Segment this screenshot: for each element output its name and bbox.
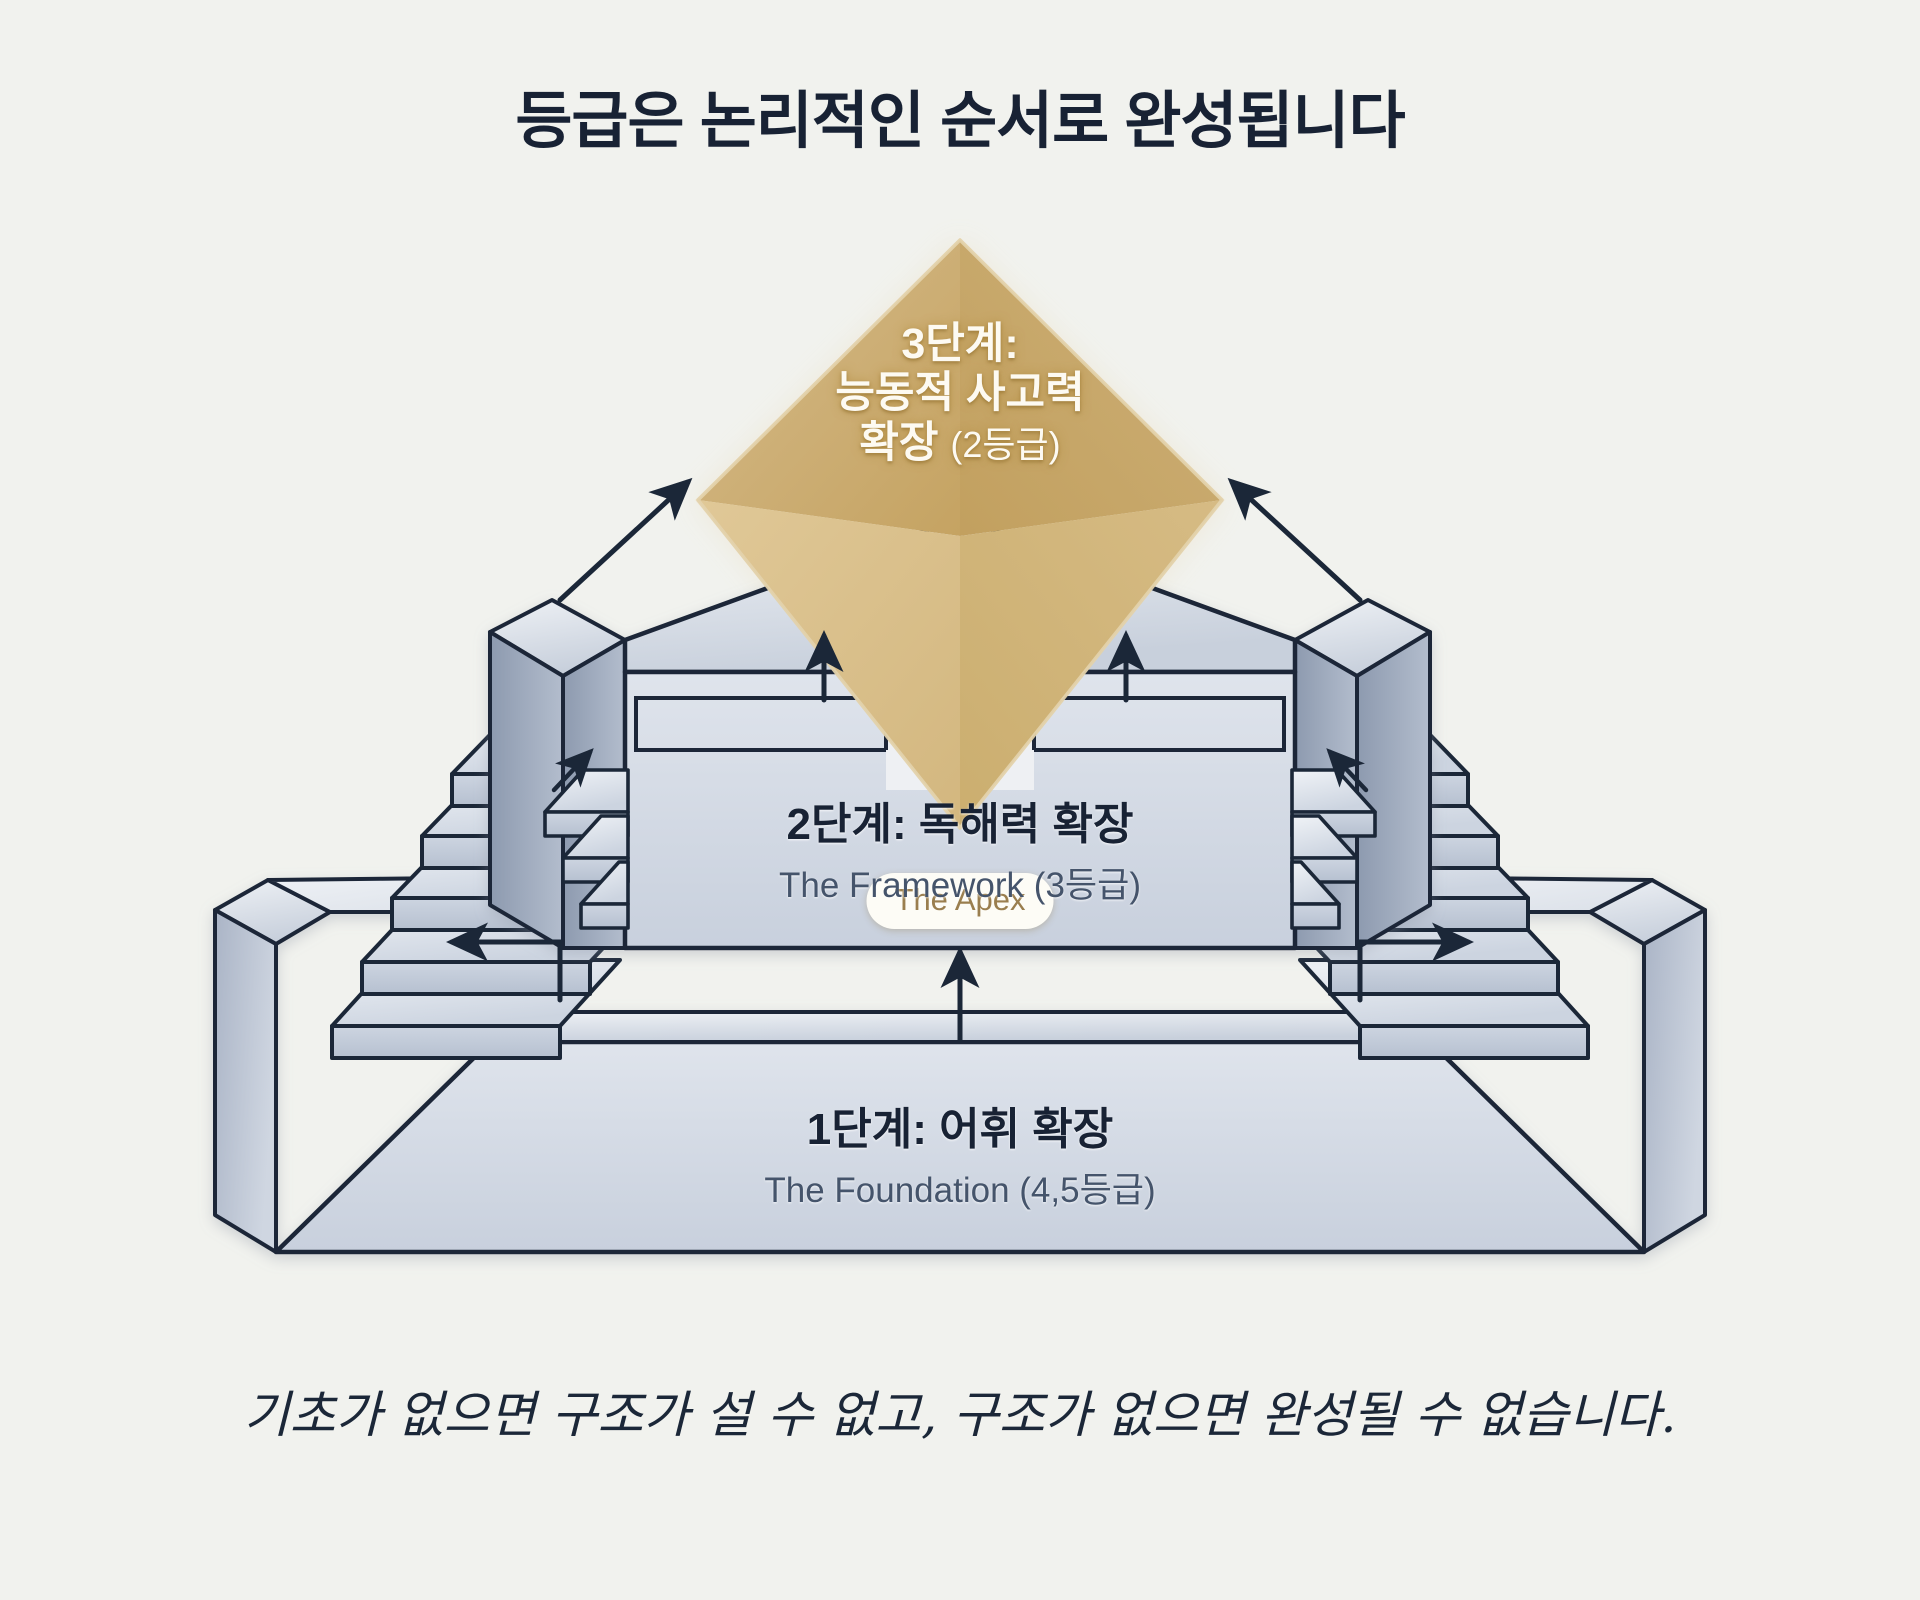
foundation-left-wall — [215, 910, 276, 1252]
apex-facet-top-left — [698, 240, 960, 536]
pyramid-diagram — [0, 0, 1920, 1600]
apex-facet-top-right — [960, 240, 1222, 536]
foundation-right-wall — [1644, 910, 1705, 1252]
stair-riser — [362, 962, 590, 994]
stair-riser — [1330, 962, 1558, 994]
stair-riser — [1292, 904, 1339, 928]
arrow-framework-to-apex-outer-left — [560, 482, 688, 600]
stair-riser — [1360, 1026, 1588, 1058]
stair-riser — [332, 1026, 560, 1058]
footer-caption: 기초가 없으면 구조가 설 수 없고, 구조가 없으면 완성될 수 없습니다. — [0, 1375, 1920, 1447]
arrow-framework-to-apex-outer-right — [1232, 482, 1360, 600]
stair-riser — [581, 904, 628, 928]
foundation-front-face — [276, 1042, 1644, 1252]
diagram-canvas: 등급은 논리적인 순서로 완성됩니다 — [0, 0, 1920, 1600]
